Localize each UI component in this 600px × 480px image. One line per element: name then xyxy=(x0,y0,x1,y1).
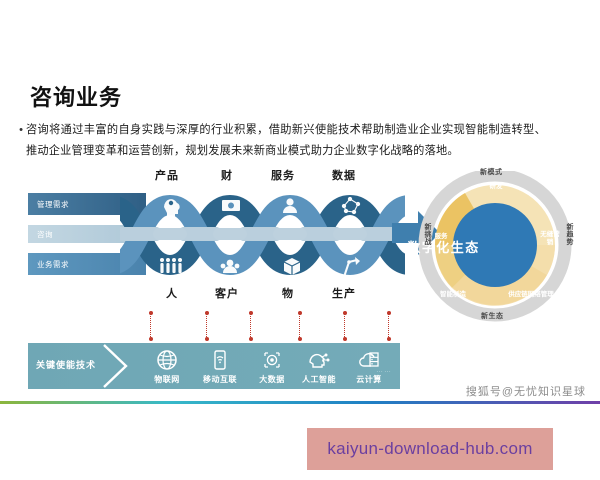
tech-item-label: 物联网 xyxy=(138,374,196,385)
weave-bottom-label-customer: 客户 xyxy=(215,285,239,301)
connector-line xyxy=(250,313,252,339)
weave-top-label-data: 数据 xyxy=(332,167,356,183)
slide-canvas: 咨询业务 • 咨询将通过丰富的自身实践与深厚的行业积累，借助新兴使能技术帮助制造… xyxy=(0,0,600,480)
ring-label-new-challenge: 新挑战 xyxy=(422,223,432,246)
weave-bottom-label-goods: 物 xyxy=(282,285,294,301)
weave-bottom-label-people: 人 xyxy=(166,285,178,301)
weave-top-label-finance: 财 xyxy=(221,167,233,183)
tech-item-mobile[interactable]: 移动互联 xyxy=(191,348,249,385)
connector-line xyxy=(299,313,301,339)
globe-network-icon xyxy=(138,348,196,372)
ring-label-new-trend: 新趋势 xyxy=(564,223,574,246)
tech-item-label: 云计算 xyxy=(340,374,398,385)
segment-label-service: 服务 xyxy=(430,233,452,241)
weave-top-label-service: 服务 xyxy=(271,167,295,183)
segment-label-marketing: 无缝营销 xyxy=(539,231,561,247)
page-title: 咨询业务 xyxy=(30,80,122,112)
weave-bottom-label-production: 生产 xyxy=(332,285,356,301)
promo-banner[interactable]: kaiyun-download-hub.com xyxy=(307,428,553,470)
mobile-wifi-icon xyxy=(191,348,249,372)
ring-label-new-ecology: 新生态 xyxy=(481,311,504,321)
connector-line xyxy=(388,313,390,339)
connector-line xyxy=(344,313,346,339)
gradient-divider xyxy=(0,401,600,404)
ecosystem-circle: 数字化生态 研发 无缝营销 供应链网络管理 智能制造 服务 新模式 新挑战 新趋… xyxy=(392,171,592,323)
tech-item-label: 移动互联 xyxy=(191,374,249,385)
bullet-marker: • xyxy=(16,120,26,162)
connector-line xyxy=(206,313,208,339)
segment-label-manufact: 智能制造 xyxy=(440,291,466,299)
ribbon-entry-label: 管理需求 xyxy=(37,199,69,210)
woven-ribbon-graphic xyxy=(120,175,405,295)
segment-label-supply: 供应链网络管理 xyxy=(504,291,558,299)
tech-item-iot[interactable]: 物联网 xyxy=(138,348,196,385)
weave-top-label-product: 产品 xyxy=(155,167,179,183)
bullet-paragraph: • 咨询将通过丰富的自身实践与深厚的行业积累，借助新兴使能技术帮助制造业企业实现… xyxy=(16,120,546,162)
enabling-tech-title: 关键使能技术 xyxy=(36,358,96,371)
tech-ellipsis: …… xyxy=(376,367,392,374)
enabling-tech-bar: 关键使能技术 物联网 移动互联 大数据 xyxy=(28,343,400,389)
chevron-right-icon xyxy=(100,343,138,389)
ring-label-new-model: 新模式 xyxy=(480,167,503,177)
process-diagram: 管理需求 咨询 业务需求 xyxy=(0,165,600,395)
watermark-text: 搜狐号@无忧知识星球 xyxy=(466,383,586,399)
ribbon-entry-label: 业务需求 xyxy=(37,259,69,270)
ribbon-entry-label: 咨询 xyxy=(37,229,53,240)
segment-label-rd: 研发 xyxy=(479,183,513,191)
promo-banner-text: kaiyun-download-hub.com xyxy=(327,439,532,459)
connector-line xyxy=(150,313,152,339)
bullet-body-text: 咨询将通过丰富的自身实践与深厚的行业积累，借助新兴使能技术帮助制造业企业实现智能… xyxy=(26,120,546,162)
